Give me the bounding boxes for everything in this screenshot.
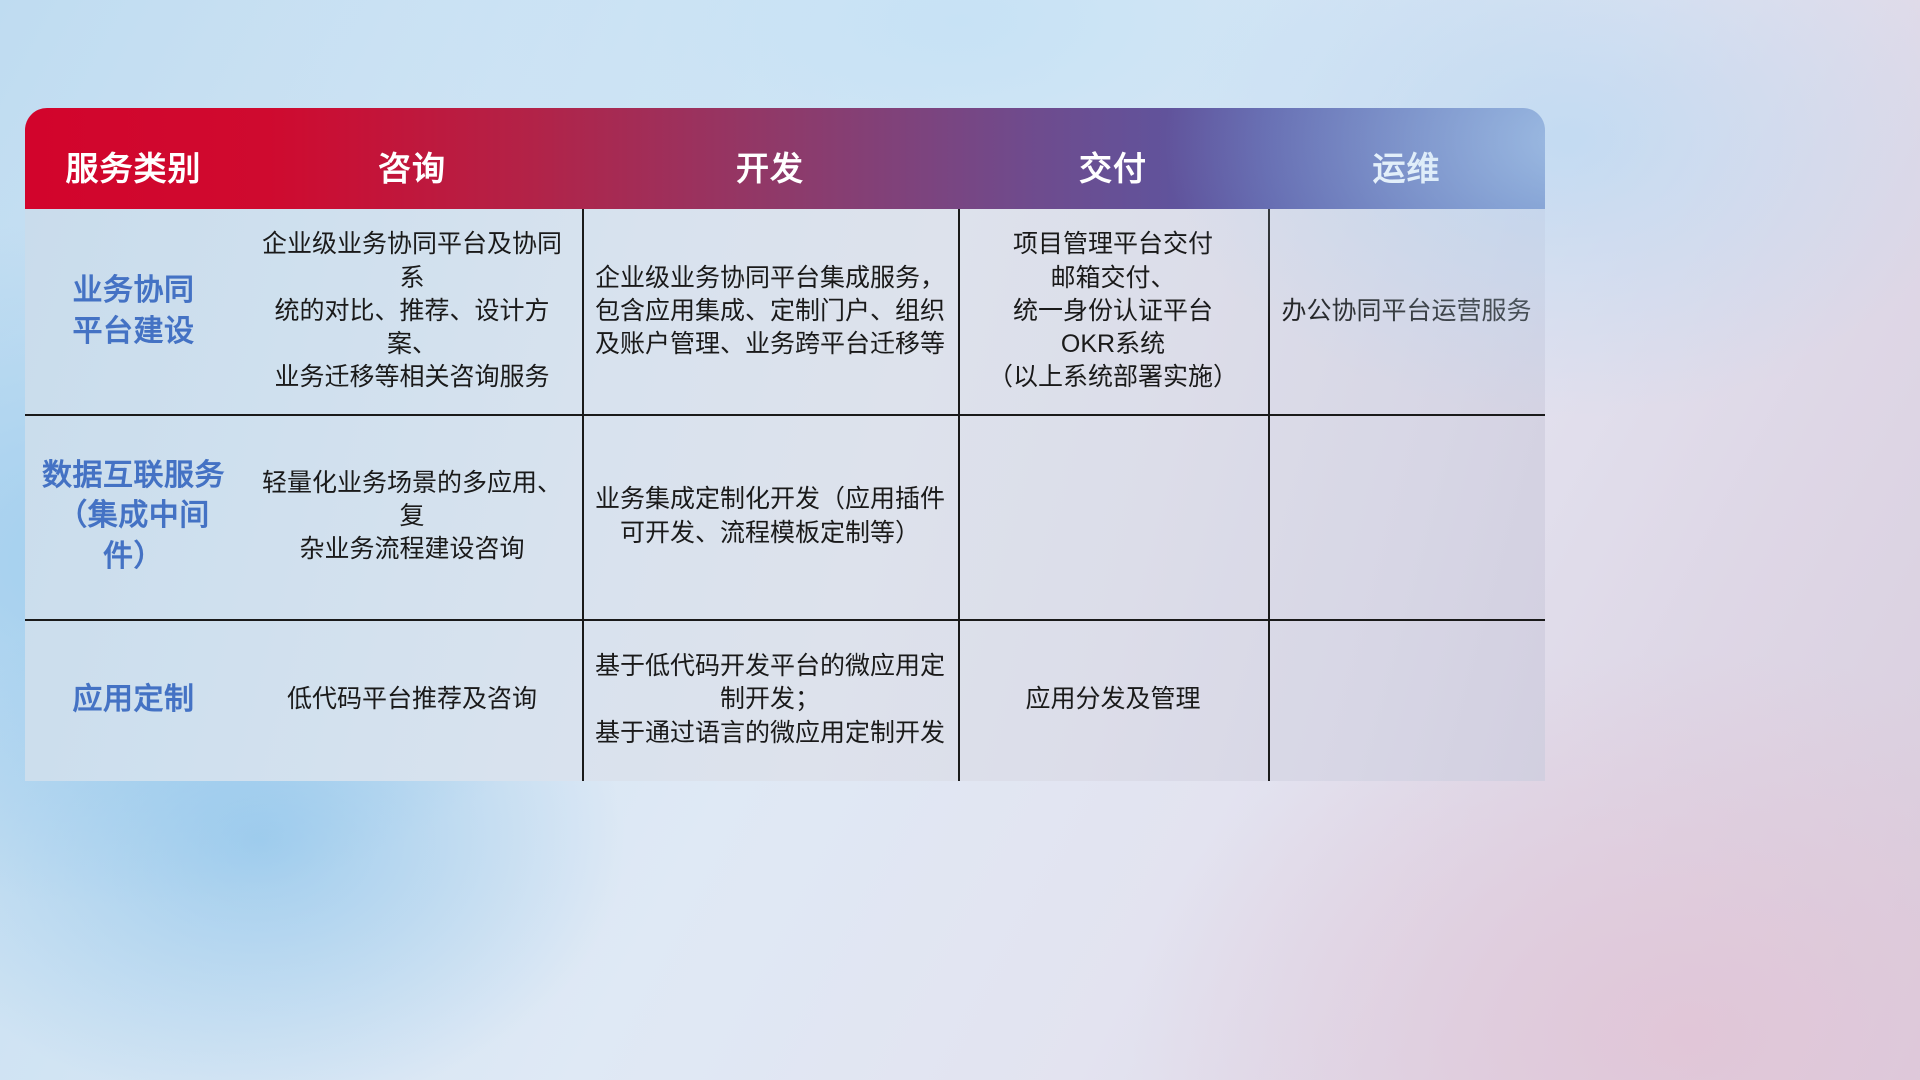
column-header-service-category: 服务类别 xyxy=(25,152,242,199)
cell-row2-consulting: 轻量化业务场景的多应用、复 杂业务流程建设咨询 xyxy=(242,414,582,619)
column-header-operations: 运维 xyxy=(1268,152,1545,199)
cell-row1-consulting: 企业级业务协同平台及协同系 统的对比、推荐、设计方案、 业务迁移等相关咨询服务 xyxy=(242,209,582,414)
slide-canvas: 服务类别 咨询 开发 交付 运维 业务协同 平台建设 企业级业务协同平台及协同系… xyxy=(0,0,1920,1080)
cell-row2-delivery xyxy=(958,414,1268,619)
row-divider-2 xyxy=(25,619,1545,621)
row-label-data-interconnection-service: 数据互联服务 （集成中间件） xyxy=(25,414,242,619)
cell-row1-operations: 办公协同平台运营服务 xyxy=(1268,209,1545,414)
cell-row3-consulting: 低代码平台推荐及咨询 xyxy=(242,619,582,781)
column-header-delivery: 交付 xyxy=(958,152,1268,199)
column-divider-delivery-operations xyxy=(1268,209,1270,781)
cell-row3-operations xyxy=(1268,619,1545,781)
table-grid: 业务协同 平台建设 企业级业务协同平台及协同系 统的对比、推荐、设计方案、 业务… xyxy=(25,209,1545,781)
table-body: 业务协同 平台建设 企业级业务协同平台及协同系 统的对比、推荐、设计方案、 业务… xyxy=(25,209,1545,781)
row-label-business-collaboration-platform: 业务协同 平台建设 xyxy=(25,209,242,414)
cell-row2-operations xyxy=(1268,414,1545,619)
column-divider-development-delivery xyxy=(958,209,960,781)
table-header-row: 服务类别 咨询 开发 交付 运维 xyxy=(25,108,1545,209)
row-label-application-customization: 应用定制 xyxy=(25,619,242,781)
cell-row1-development: 企业级业务协同平台集成服务， 包含应用集成、定制门户、组织 及账户管理、业务跨平… xyxy=(582,209,958,414)
column-divider-consulting-development xyxy=(582,209,584,781)
column-header-consulting: 咨询 xyxy=(242,152,582,199)
service-matrix-table: 服务类别 咨询 开发 交付 运维 业务协同 平台建设 企业级业务协同平台及协同系… xyxy=(25,108,1545,781)
cell-row3-delivery: 应用分发及管理 xyxy=(958,619,1268,781)
cell-row2-development: 业务集成定制化开发（应用插件 可开发、流程模板定制等） xyxy=(582,414,958,619)
cell-row1-delivery: 项目管理平台交付 邮箱交付、 统一身份认证平台 OKR系统 （以上系统部署实施） xyxy=(958,209,1268,414)
row-divider-1 xyxy=(25,414,1545,416)
column-header-development: 开发 xyxy=(582,152,958,199)
cell-row3-development: 基于低代码开发平台的微应用定 制开发； 基于通过语言的微应用定制开发 xyxy=(582,619,958,781)
